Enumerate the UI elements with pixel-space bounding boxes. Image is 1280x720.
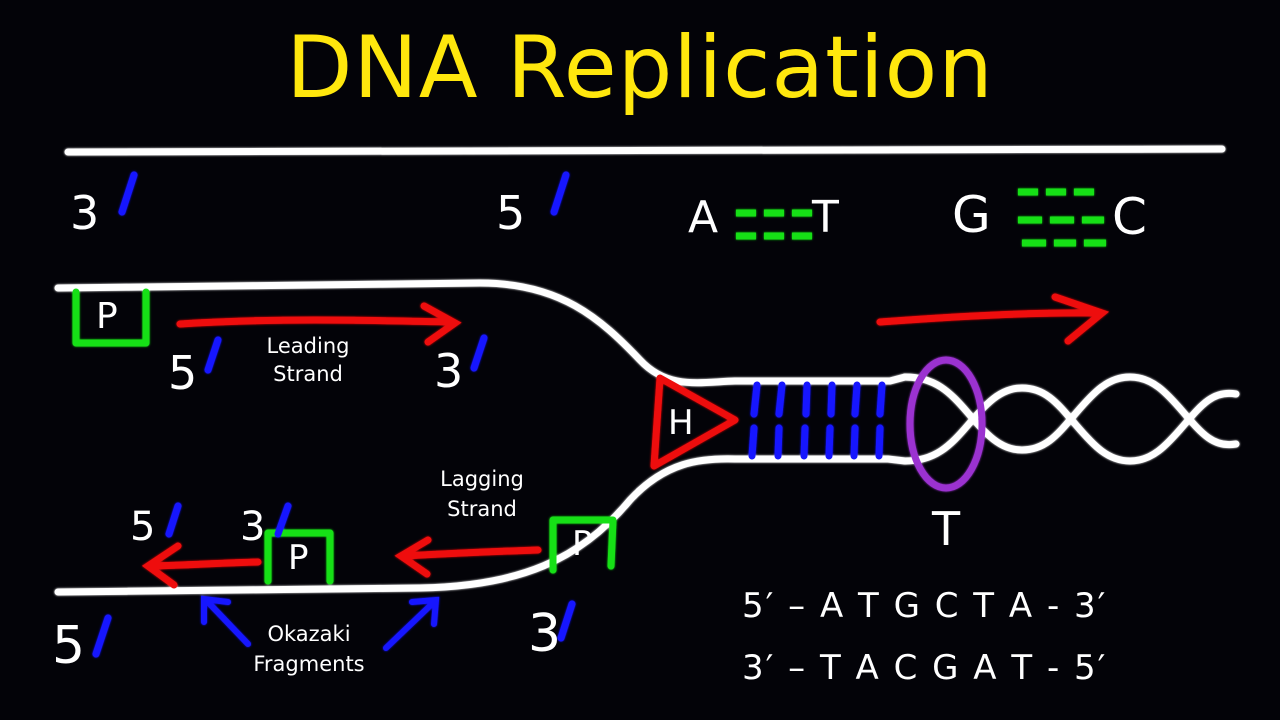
- primer-lagging-left-label: P: [288, 538, 309, 578]
- lagging-strand-label-line2: Strand: [434, 497, 530, 522]
- okazaki-pointer-left: [204, 599, 248, 644]
- strand-label-leading-5prime: 5: [168, 346, 197, 400]
- title-underline: [68, 149, 1222, 152]
- strand-label-parental-bottom-right: 3: [528, 604, 561, 665]
- helicase-triangle: [654, 378, 735, 466]
- strand-label-parental-top-right: 5: [496, 186, 525, 240]
- dna-replication-diagram: DNA Replication: [0, 0, 1280, 720]
- strand-label-parental-bottom-left: 5: [52, 616, 85, 677]
- base-thymine: T: [812, 192, 839, 244]
- sequence-top: 5′ – A T G C T A - 3′: [742, 586, 1107, 626]
- lagging-strand-label-line1: Lagging: [434, 467, 530, 492]
- leading-strand-label-line1: Leading: [262, 334, 354, 359]
- lagging-fragment-arrow-left: [148, 546, 258, 585]
- strand-label-parental-top-left: 3: [70, 186, 99, 240]
- base-adenine: A: [688, 192, 718, 244]
- strand-label-leading-3prime: 3: [434, 344, 463, 398]
- strand-label-fragment-3prime: 3: [240, 504, 265, 551]
- primer-leading-label: P: [96, 296, 118, 338]
- okazaki-pointer-right: [386, 600, 436, 648]
- base-pair-rungs-upper: [754, 385, 882, 414]
- base-guanine: G: [952, 186, 991, 245]
- primer-lagging-right-label: P: [572, 524, 593, 564]
- leading-strand-label-line2: Strand: [262, 362, 354, 387]
- okazaki-fragments-label-line2: Fragments: [248, 652, 370, 677]
- duplex-upper-backbone: [735, 377, 905, 381]
- unwinding-direction-arrow: [880, 297, 1102, 341]
- gc-hydrogen-bonds: [1018, 192, 1106, 243]
- sequence-bottom: 3′ – T A C G A T - 5′: [742, 648, 1107, 688]
- parental-strand-top: [58, 283, 735, 383]
- base-cytosine: C: [1112, 188, 1147, 247]
- base-pair-rungs-lower: [752, 428, 880, 456]
- okazaki-fragments-label-line1: Okazaki: [248, 622, 370, 647]
- topoisomerase-label: T: [932, 502, 960, 556]
- helicase-label: H: [668, 403, 694, 443]
- strand-label-fragment-5prime: 5: [130, 504, 155, 551]
- lagging-fragment-arrow-right: [401, 540, 538, 574]
- at-hydrogen-bonds: [736, 213, 812, 236]
